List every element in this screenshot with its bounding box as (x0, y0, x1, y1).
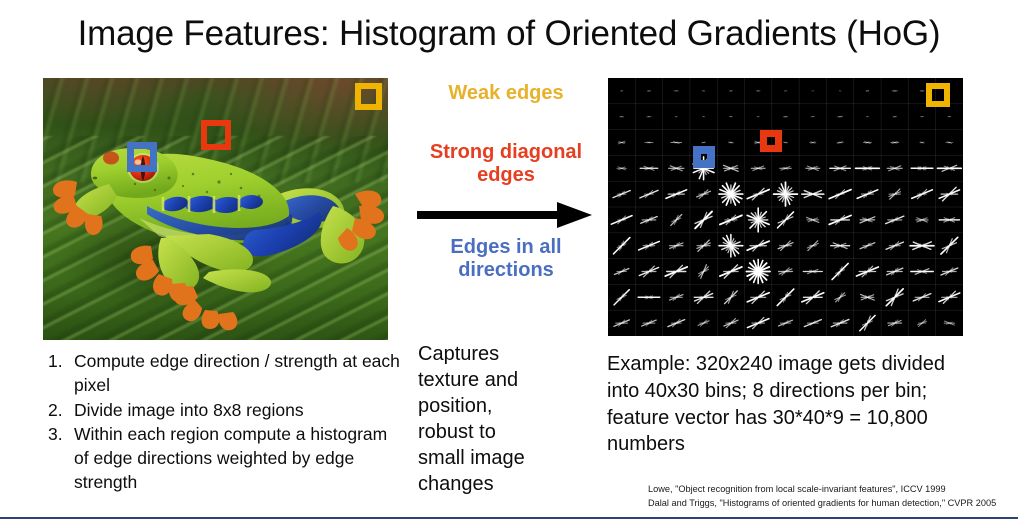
label-strong-diagonal-edges: Strong diagonal edges (408, 141, 604, 187)
red-annotation-box-photo (201, 120, 231, 150)
step-text: Within each region compute a histogram o… (74, 423, 400, 494)
list-item: 1. Compute edge direction / strength at … (44, 350, 400, 398)
step-number: 2. (44, 399, 74, 423)
hog-visualization (608, 78, 963, 336)
steps-list: 1. Compute edge direction / strength at … (44, 350, 400, 496)
step-text: Compute edge direction / strength at eac… (74, 350, 400, 398)
page-title: Image Features: Histogram of Oriented Gr… (0, 14, 1018, 54)
label-edges-all-directions: Edges in all directions (408, 236, 604, 282)
frog-photo-canvas (43, 78, 388, 340)
captures-description: Captures texture and position, robust to… (418, 341, 544, 497)
step-number: 3. (44, 423, 74, 494)
frog-illustration (43, 78, 388, 340)
citation-line: Dalal and Triggs, "Histograms of oriente… (648, 497, 1014, 511)
example-description: Example: 320x240 image gets divided into… (607, 351, 977, 458)
red-annotation-box-hog (760, 130, 782, 152)
hog-glyph-grid (608, 78, 963, 336)
frog-photo (43, 78, 388, 340)
step-text: Divide image into 8x8 regions (74, 399, 400, 423)
label-weak-edges: Weak edges (408, 82, 604, 105)
slide-canvas: Image Features: Histogram of Oriented Gr… (0, 0, 1018, 522)
right-arrow-icon (417, 199, 592, 231)
blue-annotation-box-hog (693, 146, 715, 168)
yellow-annotation-box-hog (926, 83, 950, 107)
list-item: 3. Within each region compute a histogra… (44, 423, 400, 494)
list-item: 2. Divide image into 8x8 regions (44, 399, 400, 423)
blue-annotation-box-photo (127, 142, 157, 172)
yellow-annotation-box-photo (355, 83, 382, 110)
citation-line: Lowe, "Object recognition from local sca… (648, 483, 1014, 497)
footer-divider (0, 517, 1018, 519)
citations: Lowe, "Object recognition from local sca… (648, 483, 1014, 511)
step-number: 1. (44, 350, 74, 398)
